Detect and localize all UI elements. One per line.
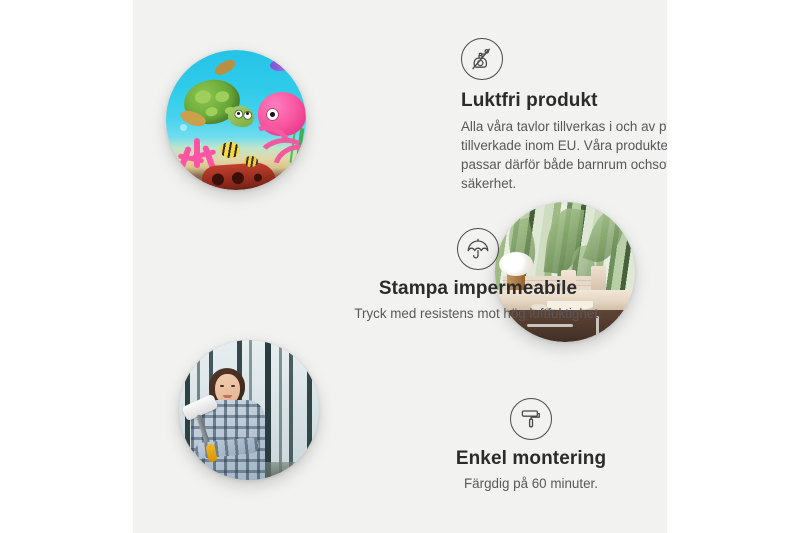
feature-description: Tryck med resistens mot hög luftfuktighe…: [333, 304, 623, 323]
purple-fish: [270, 60, 290, 71]
turtle-pupils: [237, 112, 240, 115]
feature-title: Stampa impermeabile: [333, 277, 623, 301]
feature-block-odorless: Luktfri produkt Alla våra tavlor tillver…: [461, 38, 667, 193]
yellow-striped-fish: [220, 142, 240, 158]
octopus-eye: [266, 108, 279, 121]
paint-roller-icon: [510, 398, 552, 440]
content-panel: Luktfri produkt Alla våra tavlor tillver…: [133, 0, 667, 533]
feature-title: Enkel montering: [421, 447, 641, 471]
no-fragrance-spray-bottle-icon: [461, 38, 503, 80]
feature-description: Färgdig på 60 minuter.: [421, 474, 641, 493]
feature-title: Luktfri produkt: [461, 89, 667, 113]
icon-wrapper: [421, 398, 641, 440]
small-striped-fish: [244, 156, 258, 167]
product-features-infographic: Luktfri produkt Alla våra tavlor tillver…: [0, 0, 800, 533]
umbrella-waterproof-icon: [457, 228, 499, 270]
icon-wrapper: [333, 228, 623, 270]
woman-paint-roller-forest-photo: [179, 340, 319, 480]
feature-block-waterproof: Stampa impermeabile Tryck med resistens …: [333, 228, 623, 323]
underwater-cartoon-mural-photo: [166, 50, 306, 190]
feature-block-easy-assembly: Enkel montering Färgdig på 60 minuter.: [421, 398, 641, 493]
feature-description: Alla våra tavlor tillverkas i och av pro…: [461, 117, 667, 193]
